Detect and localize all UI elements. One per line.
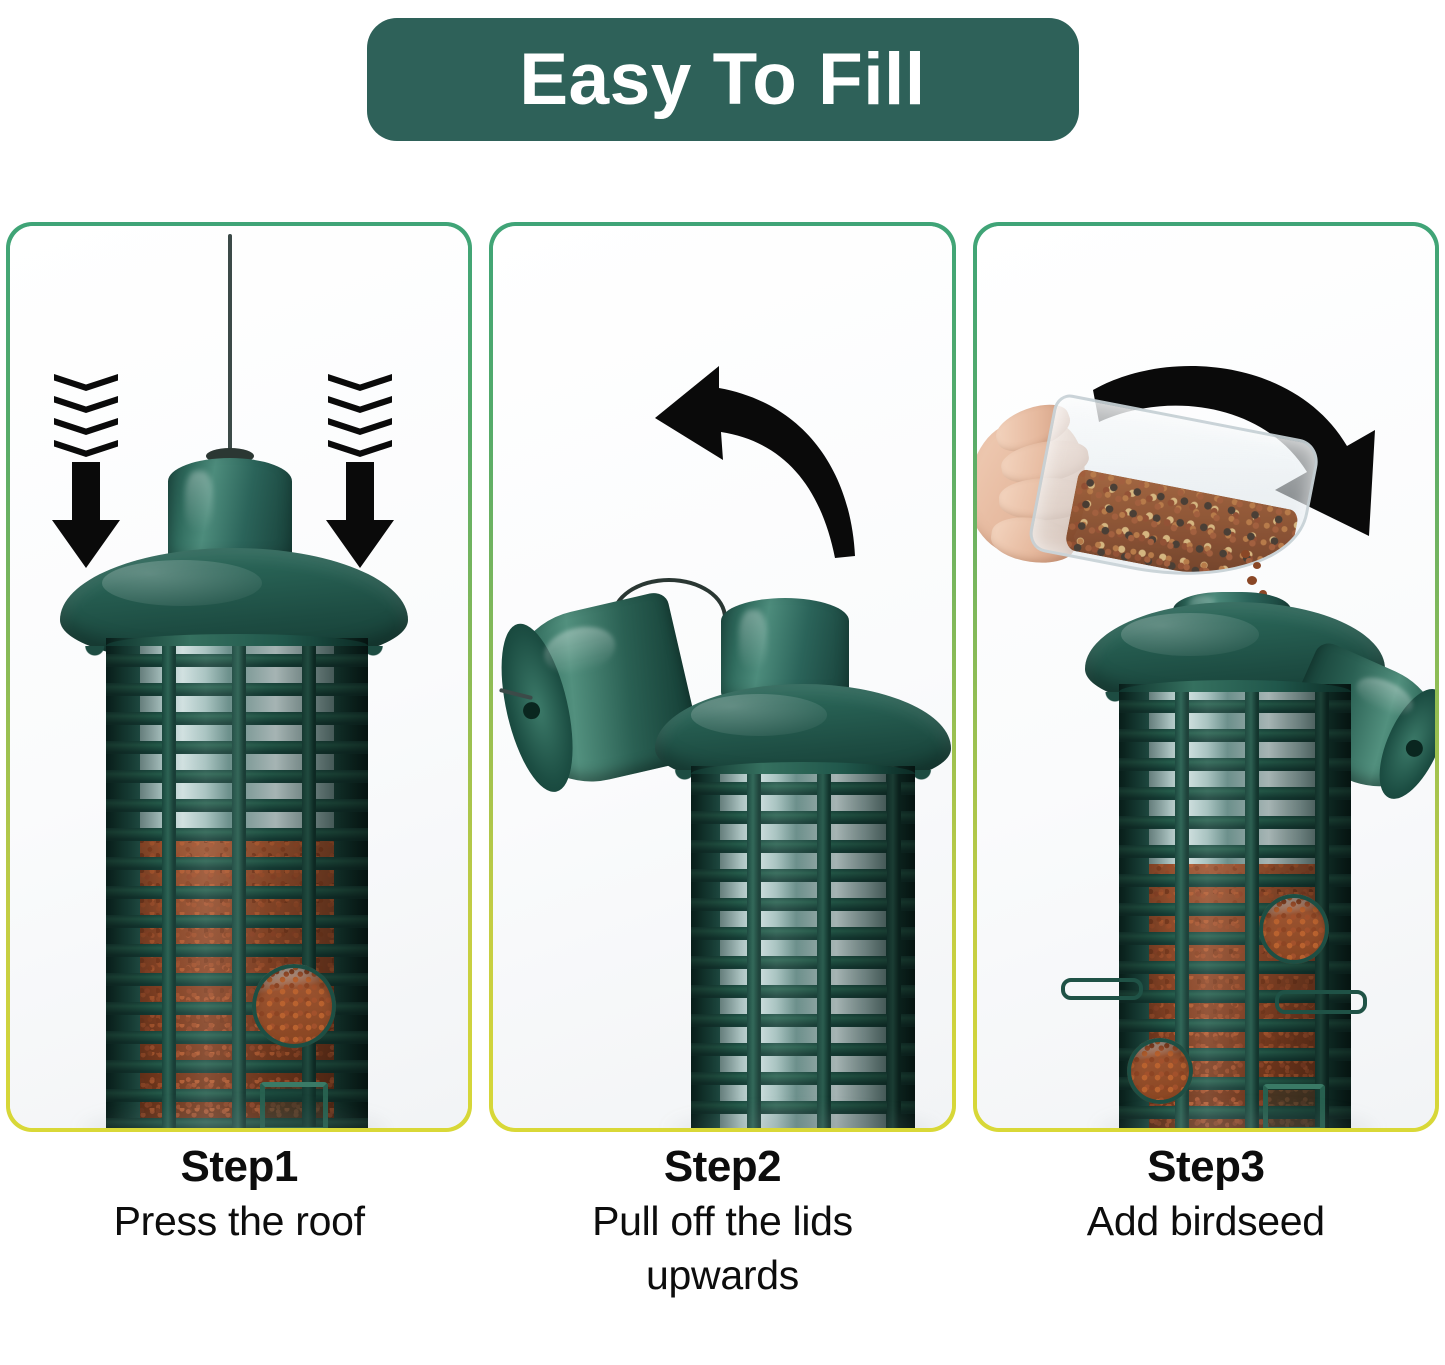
lid-highlight [1350, 670, 1417, 722]
step-3-label: Step3 [973, 1140, 1439, 1194]
step-panel-3-image [977, 226, 1435, 1128]
feeding-port-round [1259, 894, 1329, 964]
step-panel-2 [489, 222, 955, 1132]
feeder-cage-body [691, 766, 915, 1128]
feeder-cage-body [106, 638, 368, 1128]
step-1-description: Press the roof [6, 1194, 472, 1248]
lid-wire-hole-icon [522, 700, 542, 720]
perch-wire-left [1061, 978, 1143, 1000]
steps-panel-row [6, 222, 1439, 1132]
feeding-port-round [1127, 1038, 1193, 1104]
step-2-description: Pull off the lids upwards [489, 1194, 955, 1302]
page-title: Easy To Fill [519, 43, 925, 116]
step-caption-1: Step1 Press the roof [6, 1140, 472, 1302]
step-caption-2: Step2 Pull off the lids upwards [489, 1140, 955, 1302]
step-captions-row: Step1 Press the roof Step2 Pull off the … [6, 1140, 1439, 1302]
feeder-illustration-1 [10, 226, 468, 1128]
step-panel-1-image [10, 226, 468, 1128]
lid-wire-hole-icon [1403, 737, 1425, 759]
title-banner-wrap: Easy To Fill [0, 0, 1445, 141]
title-banner: Easy To Fill [367, 18, 1079, 141]
perch-wire-right [1275, 990, 1367, 1014]
step-panel-3 [973, 222, 1439, 1132]
lid-highlight [540, 620, 620, 680]
step-3-description: Add birdseed [973, 1194, 1439, 1248]
press-down-arrow-right-icon [328, 374, 392, 564]
step-1-label: Step1 [6, 1140, 472, 1194]
step-panel-1 [6, 222, 472, 1132]
hanger-wire-icon [228, 234, 232, 456]
feeding-port-round [252, 964, 336, 1048]
cage-vertical-ribs [691, 766, 915, 1128]
feeder-illustration-3 [977, 226, 1435, 1128]
step-2-label: Step2 [489, 1140, 955, 1194]
cage-vertical-ribs [106, 638, 368, 1128]
step-caption-3: Step3 Add birdseed [973, 1140, 1439, 1302]
pull-up-curved-arrow-icon [559, 356, 869, 566]
step-panel-2-image [493, 226, 951, 1128]
feeder-illustration-2 [493, 226, 951, 1128]
press-down-arrow-left-icon [54, 374, 118, 564]
